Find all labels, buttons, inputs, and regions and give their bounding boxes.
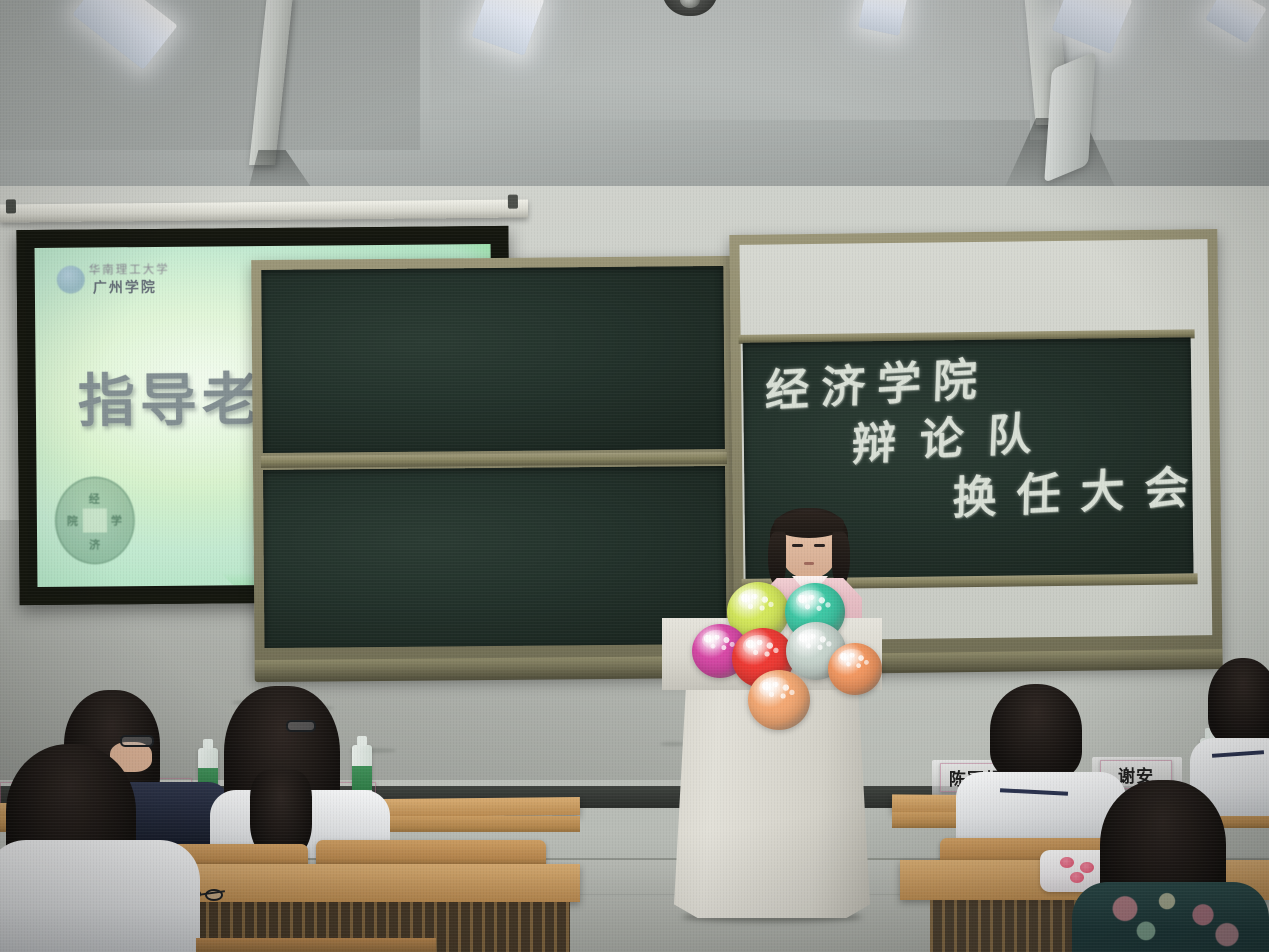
seal-char-right: 学: [111, 512, 122, 528]
student-right-far-hair: [1208, 658, 1269, 744]
screen-bracket-right: [508, 195, 518, 209]
bench-front-left: [196, 938, 436, 952]
student-right-white-hair: [990, 684, 1082, 780]
screen-bracket-left: [6, 199, 16, 213]
balloon-orange-low: [748, 670, 810, 730]
ceiling-panel-left: [0, 0, 420, 150]
seal-center-square: [83, 508, 107, 532]
university-logo: 华南理工大学 广州学院: [57, 260, 227, 303]
seal-char-left: 院: [67, 513, 78, 529]
seal-char-top: 经: [89, 490, 100, 506]
ceiling-fan-icon: [662, 0, 718, 24]
logo-college-text: 广州学院: [93, 277, 157, 298]
logo-mark-icon: [57, 266, 85, 294]
blackboard-center-lower-panel: [263, 466, 727, 648]
chalk-line-3: 换任大会: [952, 451, 1209, 527]
blackboard-center-upper-panel: [261, 266, 725, 453]
student-front-right-floral-pattern: [1098, 890, 1248, 952]
classroom-photo: 华南理工大学 广州学院 指导老师致辞 经 济 院 学 经济学院 辩论队 换任大会: [0, 0, 1269, 952]
student-back-left-white-glasses-icon: [286, 720, 316, 732]
seatback-left-2: [316, 840, 546, 866]
student-front-left-white-torso: [0, 840, 200, 952]
college-seal-icon: 经 济 院 学: [55, 476, 136, 565]
seal-char-bottom: 济: [89, 536, 100, 552]
blackboard-center: [251, 256, 737, 680]
balloon-orange-right: [828, 643, 882, 695]
logo-university-text: 华南理工大学: [89, 261, 170, 278]
student-back-left-navy-glasses-icon: [120, 735, 154, 747]
